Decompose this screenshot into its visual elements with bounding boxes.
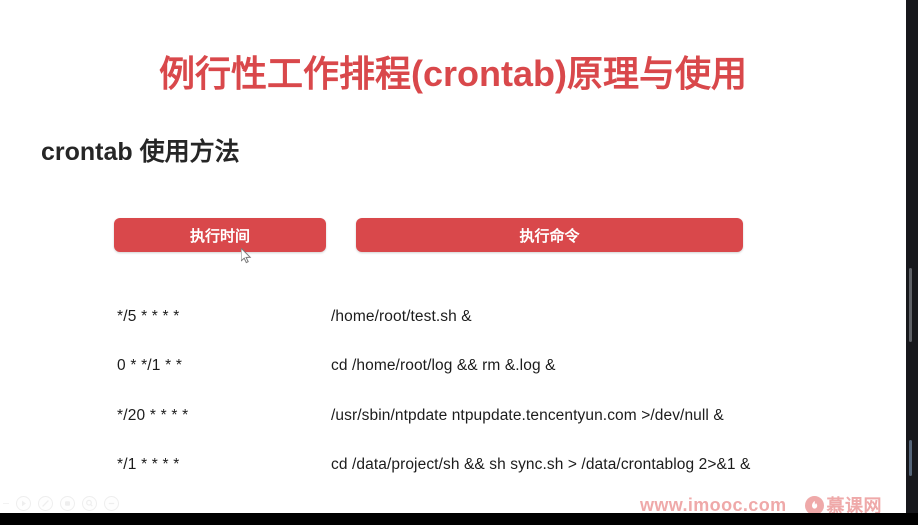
- cell-schedule: */1 * * * *: [117, 456, 180, 474]
- cell-schedule: */20 * * * *: [117, 407, 188, 425]
- table-row: */5 * * * * /home/root/test.sh &: [0, 308, 906, 332]
- column-header-schedule: 执行时间: [114, 218, 326, 252]
- footer-branding: www.imooc.com 慕课网: [640, 492, 882, 513]
- toolbar-divider: [3, 503, 9, 504]
- magnifier-icon[interactable]: [82, 496, 97, 511]
- play-icon[interactable]: [16, 496, 31, 511]
- section-subtitle: crontab 使用方法: [41, 135, 240, 169]
- imooc-logo-text: 慕课网: [827, 492, 883, 513]
- cell-schedule: */5 * * * *: [117, 308, 180, 326]
- presentation-toolbar[interactable]: [3, 496, 119, 511]
- minus-icon[interactable]: [104, 496, 119, 511]
- table-row: */20 * * * * /usr/sbin/ntpdate ntpupdate…: [0, 407, 906, 431]
- column-header-command: 执行命令: [356, 218, 743, 252]
- cell-command: /usr/sbin/ntpdate ntpupdate.tencentyun.c…: [331, 407, 724, 425]
- flame-icon: [805, 496, 824, 514]
- cell-command: cd /data/project/sh && sh sync.sh > /dat…: [331, 456, 750, 474]
- vertical-scrollbar[interactable]: [909, 268, 912, 342]
- page-title: 例行性工作排程(crontab)原理与使用: [0, 50, 906, 98]
- slide-canvas: 例行性工作排程(crontab)原理与使用 crontab 使用方法 执行时间 …: [0, 0, 906, 513]
- pen-icon[interactable]: [38, 496, 53, 511]
- cell-schedule: 0 * */1 * *: [117, 357, 182, 375]
- cell-command: /home/root/test.sh &: [331, 308, 472, 326]
- eraser-icon[interactable]: [60, 496, 75, 511]
- cell-command: cd /home/root/log && rm &.log &: [331, 357, 556, 375]
- footer-url: www.imooc.com: [640, 495, 787, 514]
- scroll-progress-indicator[interactable]: [909, 440, 912, 476]
- imooc-logo: 慕课网: [805, 492, 883, 513]
- window-bottom-chrome: [0, 513, 918, 525]
- window-right-chrome: [906, 0, 918, 513]
- table-row: 0 * */1 * * cd /home/root/log && rm &.lo…: [0, 357, 906, 381]
- table-row: */1 * * * * cd /data/project/sh && sh sy…: [0, 456, 906, 480]
